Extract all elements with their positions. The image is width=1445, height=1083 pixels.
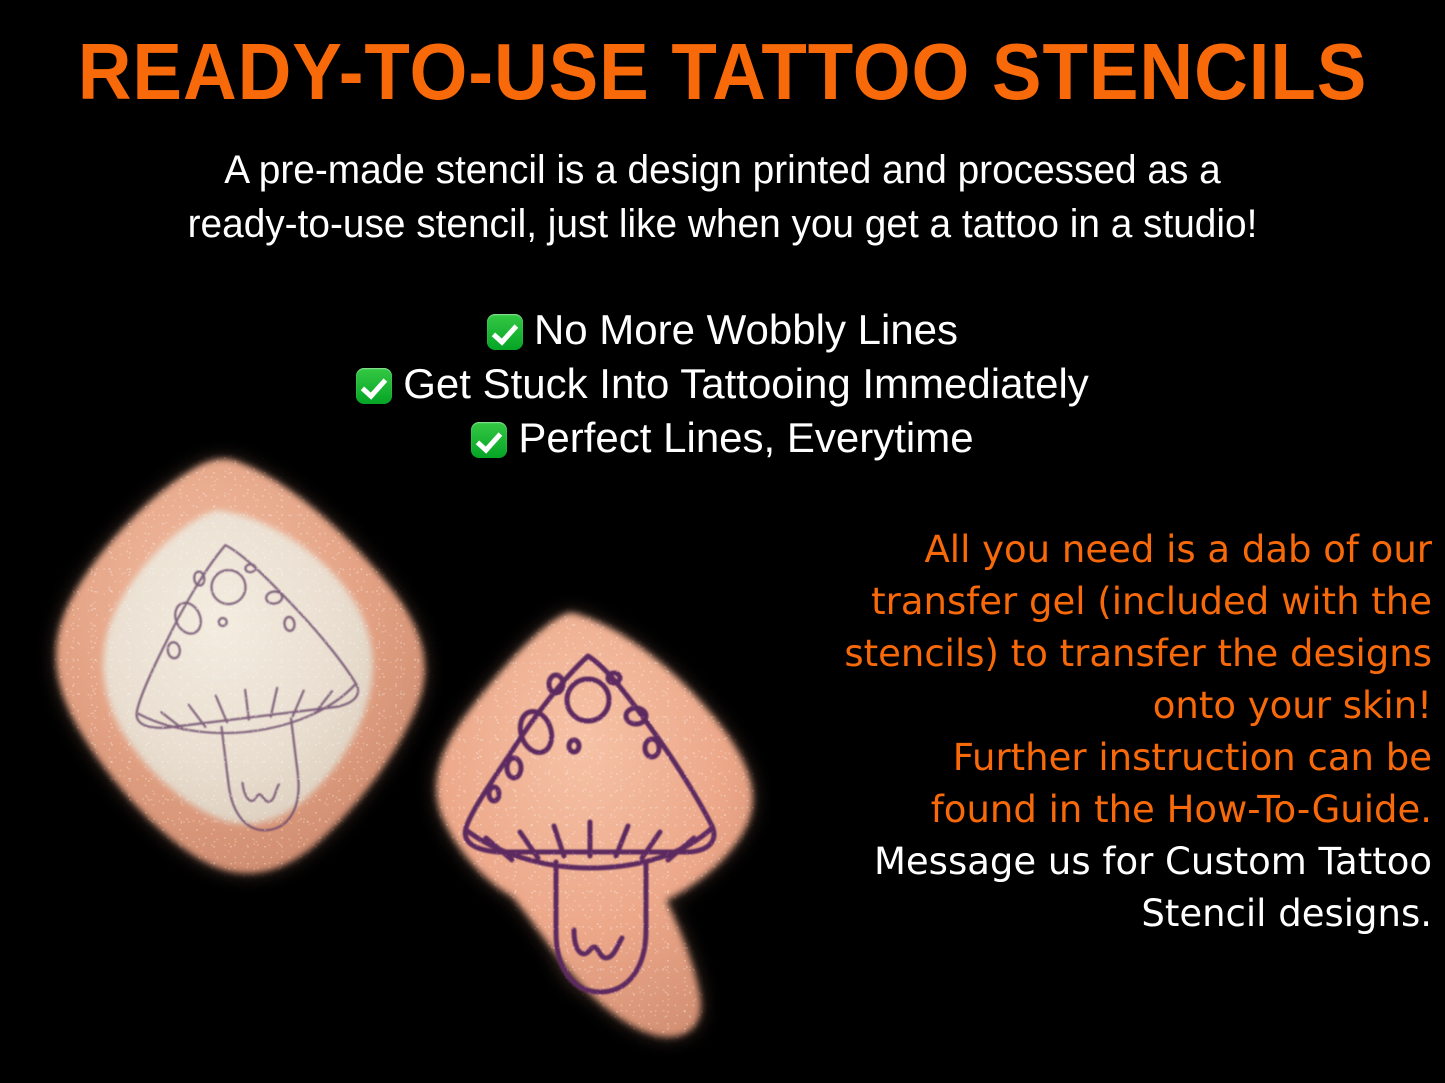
- page-title: READY-TO-USE TATTOO STENCILS: [51, 32, 1395, 112]
- benefit-item: Get Stuck Into Tattooing Immediately: [0, 357, 1445, 411]
- skin-patch-shape: [428, 600, 768, 1046]
- subtitle-line-1: A pre-made stencil is a design printed a…: [70, 143, 1375, 197]
- benefit-item: No More Wobbly Lines: [0, 303, 1445, 357]
- check-mark-button-icon: [356, 368, 392, 404]
- benefit-label: No More Wobbly Lines: [534, 306, 958, 353]
- transferred-stencil-on-skin-photo: [428, 600, 768, 1046]
- right-copy-column: All you need is a dab of our transfer ge…: [842, 524, 1432, 940]
- stencil-paper-on-skin-photo: [42, 452, 442, 884]
- promo-graphic: READY-TO-USE TATTOO STENCILS A pre-made …: [0, 0, 1445, 1083]
- transfer-gel-paragraph: All you need is a dab of our transfer ge…: [842, 524, 1432, 732]
- skin-patch-shape: [42, 452, 442, 884]
- benefit-label: Perfect Lines, Everytime: [518, 414, 973, 461]
- check-mark-button-icon: [487, 314, 523, 350]
- benefit-label: Get Stuck Into Tattooing Immediately: [403, 360, 1089, 407]
- how-to-guide-paragraph: Further instruction can be found in the …: [842, 732, 1432, 836]
- subtitle-line-2: ready-to-use stencil, just like when you…: [70, 197, 1375, 251]
- custom-designs-paragraph: Message us for Custom Tattoo Stencil des…: [842, 836, 1432, 940]
- check-mark-button-icon: [471, 422, 507, 458]
- benefits-list: No More Wobbly Lines Get Stuck Into Tatt…: [0, 303, 1445, 465]
- subtitle-paragraph: A pre-made stencil is a design printed a…: [70, 143, 1375, 251]
